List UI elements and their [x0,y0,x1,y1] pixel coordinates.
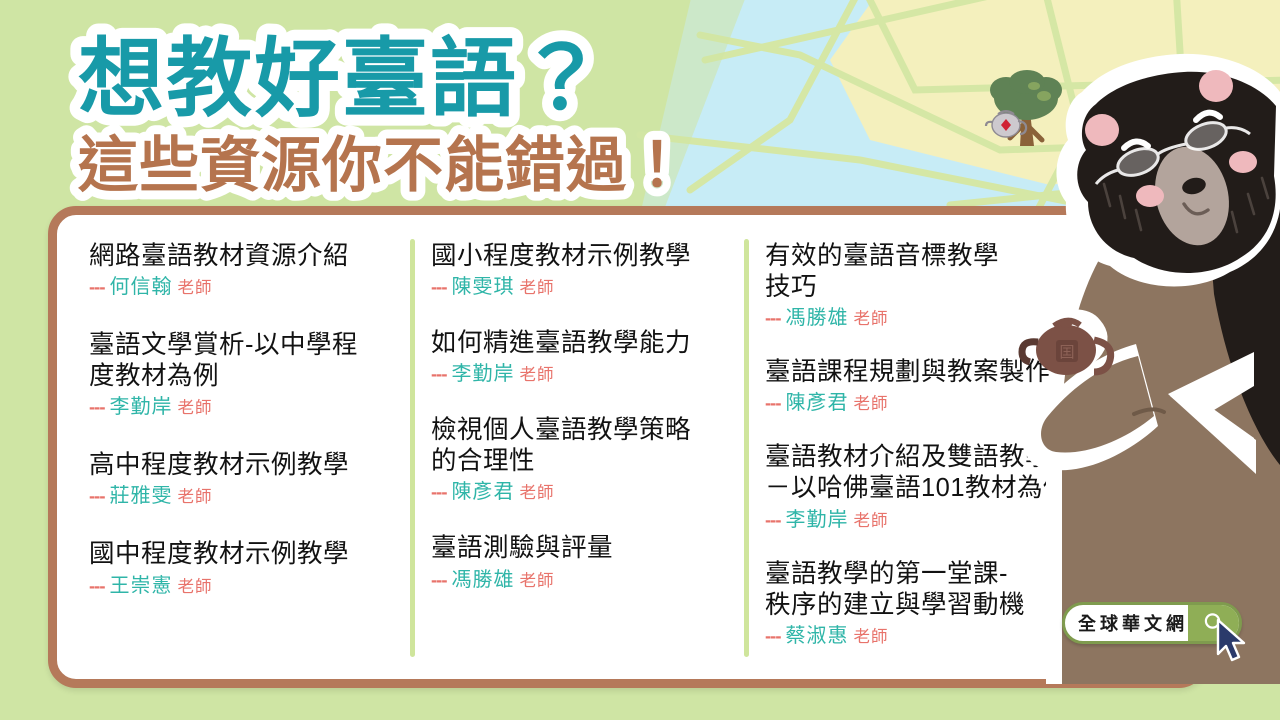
course-byline: ---馮勝雄老師 [765,306,1168,331]
course-title: 高中程度教材示例教學 [89,450,401,481]
course-title: 國小程度教材示例教學 [431,241,735,272]
dash: --- [89,396,104,417]
site-logo[interactable]: 全球華文網 [1062,602,1242,644]
teacher-name: 李勤岸 [785,509,848,531]
course-byline: ---莊雅雯老師 [89,484,401,509]
course-title: 檢視個人臺語教學策略 的合理性 [431,415,735,477]
dash: --- [431,481,446,502]
dash: --- [431,363,446,384]
course-title: 臺語教材介紹及雙語教學 －以哈佛臺語101教材為例 [765,442,1168,504]
course-title: 國中程度教材示例教學 [89,539,401,570]
course-list-card: 網路臺語教材資源介紹 ---何信翰老師 臺語文學賞析-以中學程 度教材為例 --… [48,206,1207,688]
course-byline: ---何信翰老師 [89,275,401,300]
list-item[interactable]: 臺語文學賞析-以中學程 度教材為例 ---李勤岸老師 [89,330,401,420]
dash: --- [431,569,446,590]
dash: --- [89,276,104,297]
teacher-role: 老師 [177,488,212,506]
list-item[interactable]: 國中程度教材示例教學 ---王崇憲老師 [89,539,401,598]
column-2: 國小程度教材示例教學 ---陳雯琪老師 如何精進臺語教學能力 ---李勤岸老師 … [415,235,749,663]
teacher-role: 老師 [853,310,888,328]
teacher-role: 老師 [519,279,554,297]
list-item[interactable]: 如何精進臺語教學能力 ---李勤岸老師 [431,328,735,387]
teacher-role: 老師 [177,399,212,417]
logo-text: 全球華文網 [1065,610,1188,636]
teacher-name: 李勤岸 [109,396,172,418]
course-title: 網路臺語教材資源介紹 [89,241,401,272]
course-byline: ---陳雯琪老師 [431,275,735,300]
columns-container: 網路臺語教材資源介紹 ---何信翰老師 臺語文學賞析-以中學程 度教材為例 --… [57,215,1198,679]
teacher-name: 馮勝雄 [451,569,514,591]
course-byline: ---李勤岸老師 [431,362,735,387]
teacher-role: 老師 [853,395,888,413]
course-byline: ---李勤岸老師 [89,395,401,420]
list-item[interactable]: 高中程度教材示例教學 ---莊雅雯老師 [89,450,401,509]
dash: --- [765,307,780,328]
teacher-role: 老師 [853,512,888,530]
list-item[interactable]: 臺語課程規劃與教案製作 ---陳彥君老師 [765,357,1168,416]
list-item[interactable]: 國小程度教材示例教學 ---陳雯琪老師 [431,241,735,300]
course-title: 臺語文學賞析-以中學程 度教材為例 [89,330,401,392]
dash: --- [765,509,780,530]
teacher-name: 陳雯琪 [451,276,514,298]
teacher-name: 馮勝雄 [785,307,848,329]
list-item[interactable]: 臺語教材介紹及雙語教學 －以哈佛臺語101教材為例 ---李勤岸老師 [765,442,1168,532]
teacher-name: 陳彥君 [785,392,848,414]
teacher-name: 陳彥君 [451,481,514,503]
teacher-role: 老師 [519,484,554,502]
list-item[interactable]: 臺語測驗與評量 ---馮勝雄老師 [431,533,735,592]
teacher-name: 莊雅雯 [109,485,172,507]
list-item[interactable]: 網路臺語教材資源介紹 ---何信翰老師 [89,241,401,300]
teacher-name: 王崇憲 [109,575,172,597]
list-item[interactable]: 有效的臺語音標教學 技巧 ---馮勝雄老師 [765,241,1168,331]
course-byline: ---陳彥君老師 [765,391,1168,416]
list-item[interactable]: 檢視個人臺語教學策略 的合理性 ---陳彥君老師 [431,415,735,505]
course-byline: ---陳彥君老師 [431,480,735,505]
teacher-role: 老師 [853,628,888,646]
dash: --- [431,276,446,297]
teacher-role: 老師 [177,279,212,297]
teacher-role: 老師 [177,578,212,596]
dash: --- [89,575,104,596]
mouse-cursor-icon [1214,618,1254,666]
teacher-role: 老師 [519,366,554,384]
teacher-name: 蔡淑惠 [785,625,848,647]
teacher-role: 老師 [519,572,554,590]
course-title: 有效的臺語音標教學 技巧 [765,241,1168,303]
column-3: 有效的臺語音標教學 技巧 ---馮勝雄老師 臺語課程規劃與教案製作 ---陳彥君… [749,235,1182,663]
dash: --- [765,625,780,646]
dash: --- [765,392,780,413]
course-title: 如何精進臺語教學能力 [431,328,735,359]
teacher-name: 何信翰 [109,276,172,298]
course-byline: ---王崇憲老師 [89,574,401,599]
course-title: 臺語課程規劃與教案製作 [765,357,1168,388]
course-byline: ---李勤岸老師 [765,508,1168,533]
teacher-name: 李勤岸 [451,363,514,385]
column-1: 網路臺語教材資源介紹 ---何信翰老師 臺語文學賞析-以中學程 度教材為例 --… [73,235,415,663]
course-byline: ---馮勝雄老師 [431,568,735,593]
dash: --- [89,485,104,506]
course-title: 臺語測驗與評量 [431,533,735,564]
